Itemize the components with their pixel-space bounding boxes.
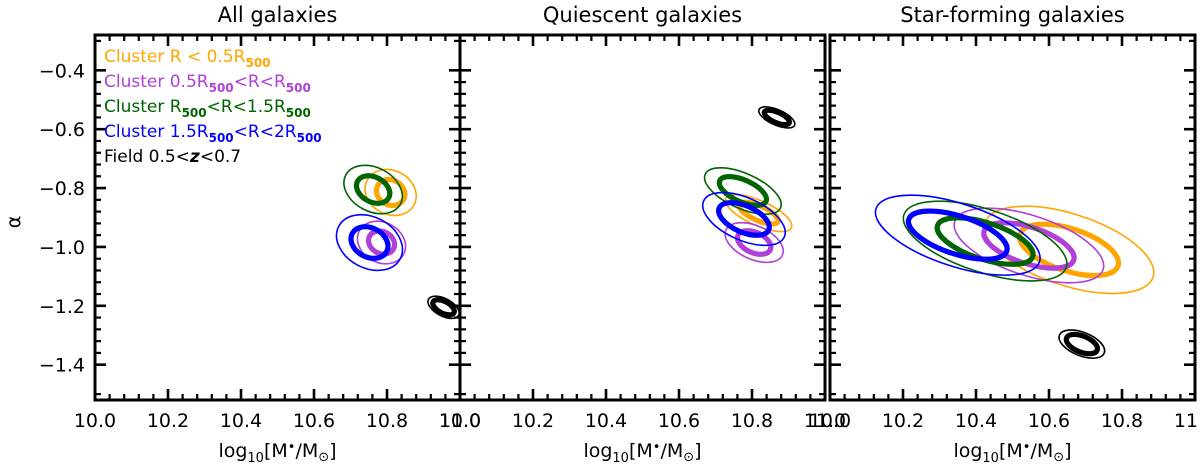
x-axis-title: log10[M•/M⊙]: [953, 440, 1071, 466]
xlab-star: •: [1023, 440, 1031, 455]
panel-title-quiescent-galaxies: Quiescent galaxies: [543, 3, 742, 27]
x-tick-label: 10.4: [220, 410, 262, 432]
xlab-slash: /M: [660, 440, 683, 462]
ellipse-2sigma-field-05-z-07: [1055, 324, 1109, 364]
panel-frame: [460, 35, 825, 400]
xlab-slash: /M: [295, 440, 318, 462]
panel-star-forming-galaxies: Star-forming galaxies10.010.210.410.610.…: [809, 3, 1200, 466]
x-tick-label: 11.0: [1174, 410, 1200, 432]
legend-subscript: 500: [209, 81, 234, 95]
legend-text-part: z: [189, 147, 200, 167]
xlab-sun: ⊙: [1053, 450, 1064, 465]
xlab-star: •: [288, 440, 296, 455]
xlab-sub10: 10: [982, 451, 999, 466]
y-tick-label: −1.0: [39, 237, 85, 259]
legend-text-part: Cluster R < 0.5R: [104, 47, 246, 67]
xlab-open: [M: [999, 440, 1023, 462]
x-tick-label: 10.6: [658, 410, 700, 432]
panel-title-star-forming-galaxies: Star-forming galaxies: [900, 3, 1124, 27]
legend-item-cluster-r-lt-05r500: Cluster R < 0.5R500: [104, 47, 271, 70]
ellipse-1sigma-field-05-z-07: [762, 107, 791, 127]
y-tick-label: −1.2: [39, 296, 85, 318]
y-tick-label: −0.4: [39, 60, 85, 82]
legend-text-part: <R<2R: [234, 122, 297, 142]
x-tick-label: 10.8: [1101, 410, 1143, 432]
ellipse-2sigma-field-05-z-07: [756, 103, 798, 133]
x-tick-label: 10.0: [439, 410, 481, 432]
xlab-log: log: [218, 440, 247, 462]
xlab-close: ]: [694, 440, 701, 462]
y-tick-label: −1.4: [39, 355, 85, 377]
xlab-sub10: 10: [612, 451, 629, 466]
x-tick-label: 10.2: [882, 410, 924, 432]
xlab-close: ]: [329, 440, 336, 462]
legend-subscript: 500: [245, 56, 270, 70]
ellipse-group: [866, 179, 1164, 364]
x-tick-label: 10.4: [585, 410, 627, 432]
x-tick-label: 10.2: [147, 410, 189, 432]
legend-subscript: 500: [182, 106, 207, 120]
legend-text-part: Cluster R: [104, 97, 182, 117]
panel-title-all-galaxies: All galaxies: [218, 3, 338, 27]
xlab-log: log: [583, 440, 612, 462]
xlab-sub10: 10: [247, 451, 264, 466]
panel-quiescent-galaxies: Quiescent galaxies10.010.210.410.610.811…: [439, 3, 846, 466]
legend-subscript: 500: [297, 131, 322, 145]
y-tick-label: −0.6: [39, 119, 85, 141]
x-tick-label: 10.0: [809, 410, 851, 432]
xlab-open: [M: [264, 440, 288, 462]
x-tick-label: 10.8: [731, 410, 773, 432]
xlab-sun: ⊙: [318, 450, 329, 465]
xlab-log: log: [953, 440, 982, 462]
legend-subscript: 500: [286, 81, 311, 95]
legend-text-part: <R<1.5R: [207, 97, 286, 117]
x-tick-label: 10.6: [293, 410, 335, 432]
x-axis-title: log10[M•/M⊙]: [218, 440, 336, 466]
ellipse-1sigma-field-05-z-07: [1064, 330, 1101, 357]
figure-canvas: All galaxies10.010.210.410.610.811.0−0.4…: [0, 0, 1200, 470]
legend-subscript: 500: [209, 131, 234, 145]
xlab-close: ]: [1064, 440, 1071, 462]
xlab-open: [M: [629, 440, 653, 462]
ellipse-group: [327, 156, 463, 323]
x-tick-label: 10.6: [1028, 410, 1070, 432]
legend-item-cluster-15r500-r-2r500: Cluster 1.5R500<R<2R500: [104, 122, 322, 145]
legend-text-part: Cluster 0.5R: [104, 72, 209, 92]
legend-item-cluster-r500-r-15r500: Cluster R500<R<1.5R500: [104, 97, 311, 120]
x-axis-title: log10[M•/M⊙]: [583, 440, 701, 466]
legend-text-part: Field 0.5<: [104, 147, 190, 167]
ellipse-2sigma-cluster-r500-r-15r500: [336, 156, 411, 224]
legend-text-part: Cluster 1.5R: [104, 122, 209, 142]
legend-text-part: <0.7: [200, 147, 241, 167]
legend-text-part: <R<R: [234, 72, 286, 92]
xlab-star: •: [653, 440, 661, 455]
legend-subscript: 500: [286, 106, 311, 120]
figure-root: All galaxies10.010.210.410.610.811.0−0.4…: [0, 0, 1200, 470]
legend-item-cluster-05r500-r-r500: Cluster 0.5R500<R<R500: [104, 72, 311, 95]
ellipse-group: [695, 103, 798, 271]
x-tick-label: 10.8: [366, 410, 408, 432]
y-tick-label: −0.8: [39, 178, 85, 200]
legend: Cluster R < 0.5R500Cluster 0.5R500<R<R50…: [104, 47, 322, 167]
ellipse-1sigma-field-05-z-07: [430, 297, 456, 318]
x-tick-label: 10.4: [955, 410, 997, 432]
xlab-sun: ⊙: [683, 450, 694, 465]
legend-item-field-05-z-07: Field 0.5<z<0.7: [104, 147, 241, 167]
x-tick-label: 10.2: [512, 410, 554, 432]
x-tick-label: 10.0: [74, 410, 116, 432]
ellipse-2sigma-cluster-05r500-r-r500: [350, 213, 413, 272]
y-axis-title: α: [3, 216, 25, 229]
xlab-slash: /M: [1030, 440, 1053, 462]
